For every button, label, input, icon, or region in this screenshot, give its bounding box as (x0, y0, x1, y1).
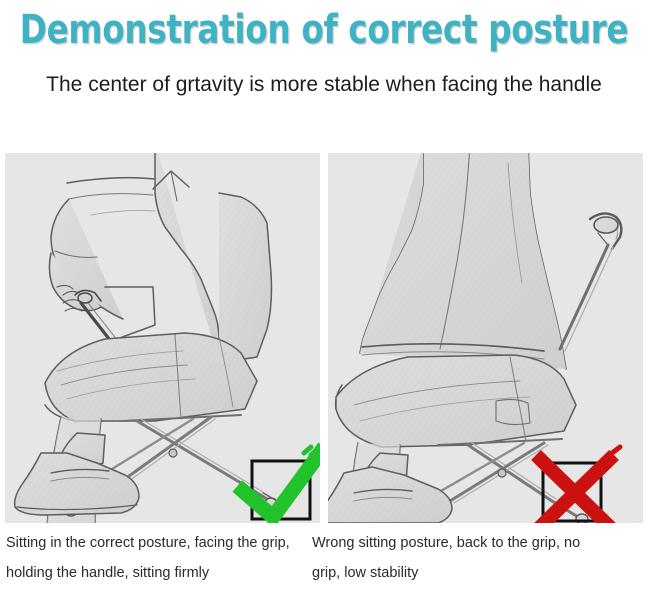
title-band: Demonstration of correct posture (0, 0, 648, 60)
product-infographic: Demonstration of correct posture The cen… (0, 0, 648, 600)
caption-row: Sitting in the correct posture, facing t… (0, 528, 648, 600)
sketch-correct-posture (5, 153, 320, 523)
caption-correct-posture: Sitting in the correct posture, facing t… (6, 528, 306, 588)
caption-wrong-posture: Wrong sitting posture, back to the grip,… (312, 528, 632, 588)
caption-right-line-2: grip, low stability (312, 558, 632, 588)
panel-correct-posture (5, 153, 320, 523)
page-subtitle: The center of grtavity is more stable wh… (46, 72, 602, 98)
caption-left-line-1: Sitting in the correct posture, facing t… (6, 528, 306, 558)
caption-right-line-1: Wrong sitting posture, back to the grip,… (312, 528, 632, 558)
sketch-wrong-posture (328, 153, 643, 523)
caption-left-line-2: holding the handle, sitting firmly (6, 558, 306, 588)
panel-wrong-posture (328, 153, 643, 523)
illustration-panels (0, 153, 648, 523)
subtitle-band: The center of grtavity is more stable wh… (0, 66, 648, 104)
page-title: Demonstration of correct posture (20, 9, 628, 51)
